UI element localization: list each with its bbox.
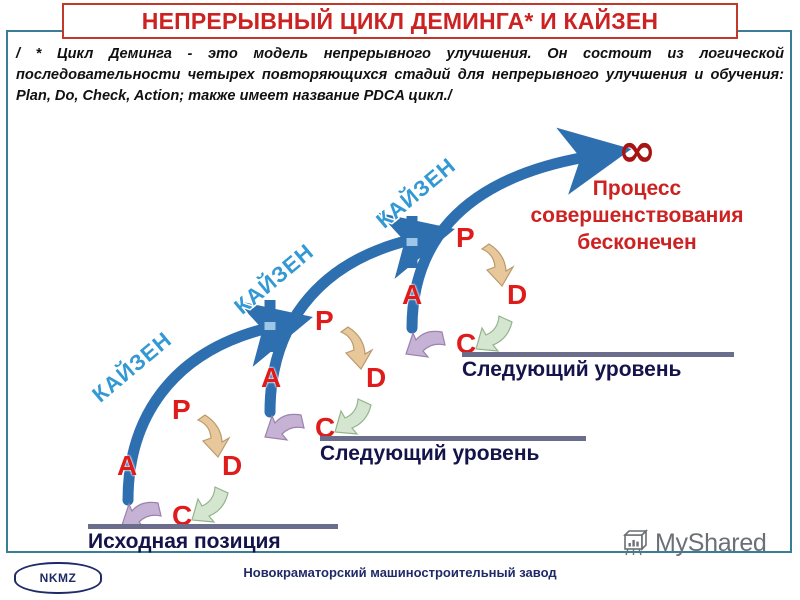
pdca-letter-a-3: A bbox=[402, 281, 422, 309]
pdca-letter-p-1: P bbox=[172, 396, 191, 424]
level-baseline-3 bbox=[462, 352, 734, 357]
level-label-2: Следующий уровень bbox=[320, 442, 539, 466]
pdca-letter-a-2: A bbox=[261, 364, 281, 392]
small-arrow-d-to-c-2 bbox=[335, 399, 371, 434]
small-arrow-d-to-c-1 bbox=[192, 487, 228, 522]
endcap-line-2: совершенствования bbox=[492, 202, 782, 229]
endcap-line-1: Процесс bbox=[492, 175, 782, 202]
description-text: / * Цикл Деминга - это модель непрерывно… bbox=[16, 44, 784, 107]
small-arrow-d-to-c-3 bbox=[476, 316, 512, 351]
page-title: НЕПРЕРЫВНЫЙ ЦИКЛ ДЕМИНГА* И КАЙЗЕН bbox=[142, 8, 658, 35]
level-baseline-1 bbox=[88, 524, 338, 529]
footer-company-name: Новокраматорский машиностроительный заво… bbox=[0, 565, 800, 580]
pdca-letter-d-1: D bbox=[222, 452, 242, 480]
pdca-letter-p-2: P bbox=[315, 307, 334, 335]
pdca-letter-a-1: A bbox=[117, 452, 137, 480]
infinity-icon: ∞ bbox=[492, 132, 782, 168]
level-label-1: Исходная позиция bbox=[88, 530, 281, 554]
endcap-line-3: бесконечен bbox=[492, 229, 782, 256]
pdca-letter-p-3: P bbox=[456, 224, 475, 252]
slide-title-box: НЕПРЕРЫВНЫЙ ЦИКЛ ДЕМИНГА* И КАЙЗЕН bbox=[62, 3, 738, 39]
level-label-3: Следующий уровень bbox=[462, 358, 681, 382]
level-baseline-2 bbox=[320, 436, 586, 441]
pdca-letter-d-3: D bbox=[507, 281, 527, 309]
myshared-label: MyShared bbox=[655, 529, 767, 558]
flipchart-icon bbox=[620, 528, 650, 558]
slide-canvas: НЕПРЕРЫВНЫЙ ЦИКЛ ДЕМИНГА* И КАЙЗЕН / * Ц… bbox=[0, 0, 800, 600]
pdca-letter-d-2: D bbox=[366, 364, 386, 392]
small-arrow-c-to-a-3 bbox=[406, 331, 445, 357]
endcap-caption: Процесс совершенствования бесконечен bbox=[492, 175, 782, 256]
myshared-watermark: MyShared bbox=[620, 528, 767, 558]
small-arrow-c-to-a-2 bbox=[265, 414, 304, 440]
